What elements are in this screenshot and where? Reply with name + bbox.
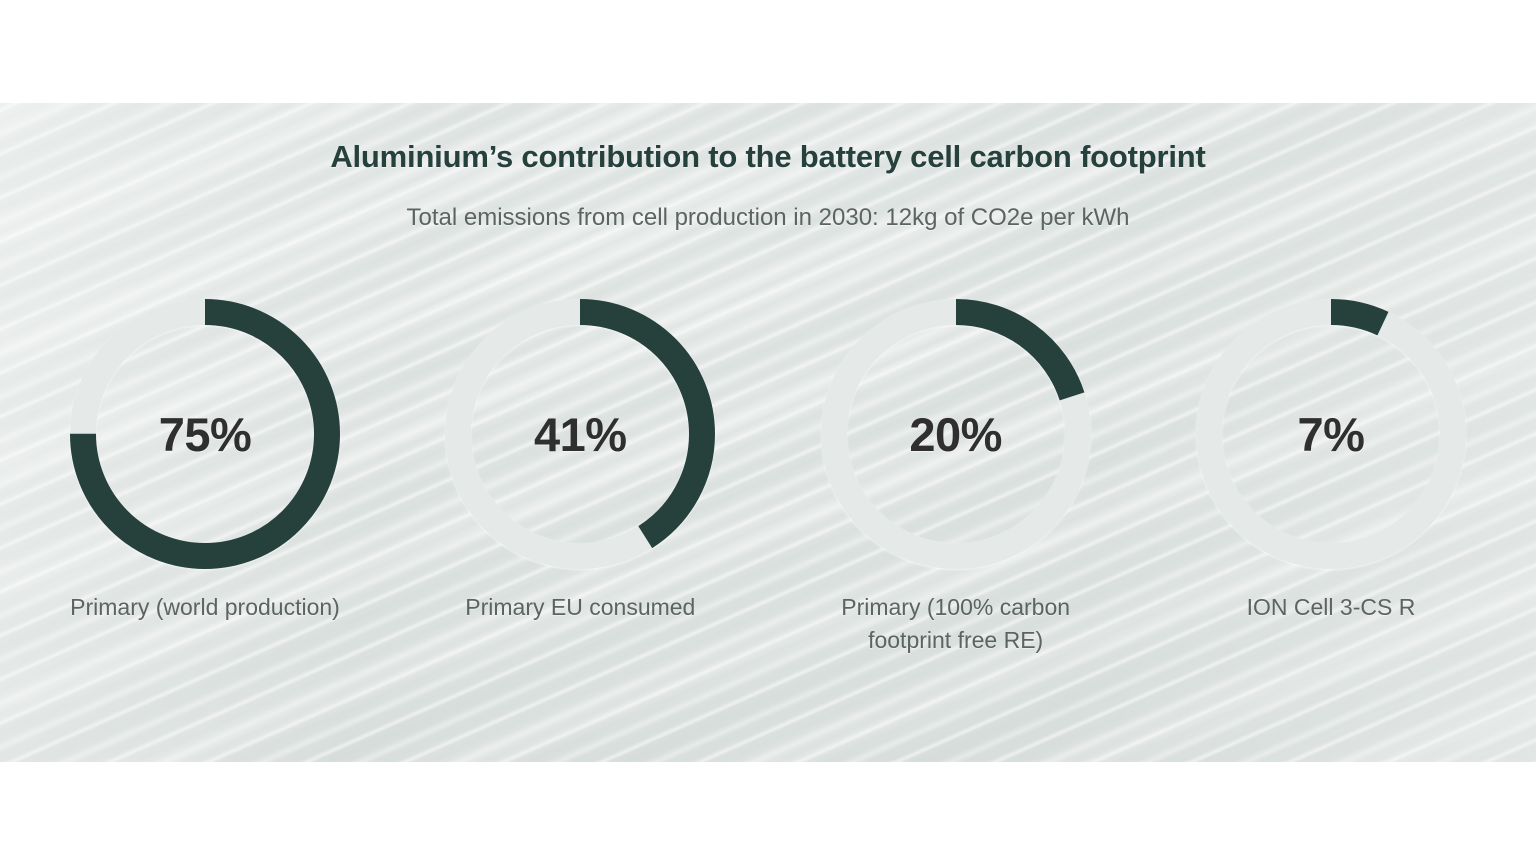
donut-label-1: Primary (world production) bbox=[65, 591, 345, 624]
donut-value-2: 41% bbox=[445, 299, 715, 569]
donut-label-3: Primary (100% carbon footprint free RE) bbox=[816, 591, 1096, 656]
page-subtitle: Total emissions from cell production in … bbox=[0, 204, 1536, 232]
donut-value-1: 75% bbox=[70, 299, 340, 569]
donut-card-2: 41% Primary EU consumed bbox=[401, 299, 759, 656]
donut-card-3: 20% Primary (100% carbon footprint free … bbox=[777, 299, 1135, 656]
page-title: Aluminium’s contribution to the battery … bbox=[0, 139, 1536, 175]
slide-content: Aluminium’s contribution to the battery … bbox=[0, 103, 1536, 762]
donut-gauge-4: 7% bbox=[1196, 299, 1466, 569]
donut-gauge-2: 41% bbox=[445, 299, 715, 569]
donut-gauge-1: 75% bbox=[70, 299, 340, 569]
donut-label-4: ION Cell 3-CS R bbox=[1191, 591, 1471, 624]
donut-chart-row: 75% Primary (world production) 41% Prima… bbox=[0, 299, 1536, 656]
donut-gauge-3: 20% bbox=[821, 299, 1091, 569]
donut-value-3: 20% bbox=[821, 299, 1091, 569]
donut-card-1: 75% Primary (world production) bbox=[26, 299, 384, 656]
donut-card-4: 7% ION Cell 3-CS R bbox=[1152, 299, 1510, 656]
slide-frame: Aluminium’s contribution to the battery … bbox=[0, 103, 1536, 762]
donut-label-2: Primary EU consumed bbox=[440, 591, 720, 624]
donut-value-4: 7% bbox=[1196, 299, 1466, 569]
